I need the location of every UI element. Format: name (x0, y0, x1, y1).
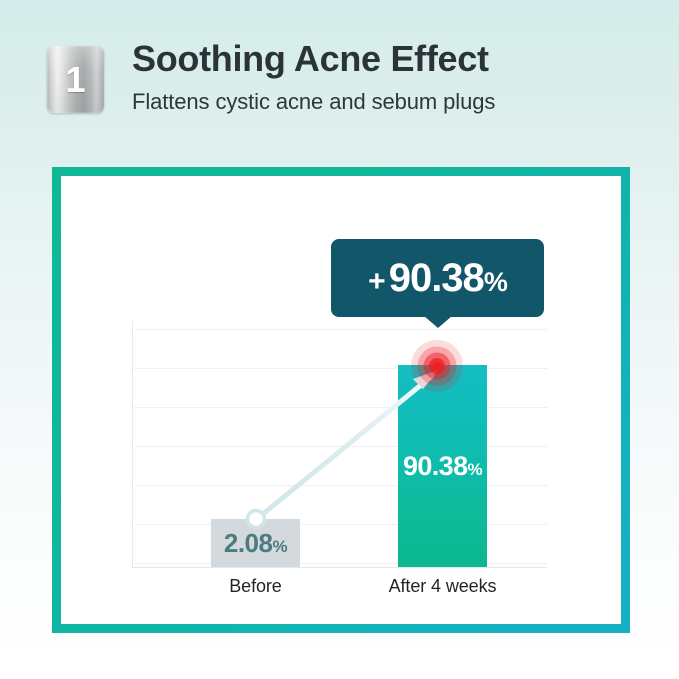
callout-value: 90.38 (389, 256, 484, 300)
increase-callout: +90.38% (331, 239, 544, 317)
header: 1 Soothing Acne Effect Flattens cystic a… (47, 40, 647, 135)
callout-percent-sign: % (484, 267, 507, 297)
bar-after-value-label: 90.38% (398, 451, 487, 482)
bar-before: 2.08% (211, 519, 300, 567)
callout-pointer-icon (424, 316, 452, 328)
chart-card-frame: +90.38% 2.08% 90.38% (52, 167, 630, 633)
x-axis-label-after: After 4 weeks (372, 576, 513, 597)
callout-plus-sign: + (368, 265, 385, 298)
bar-after-value: 90.38 (403, 451, 468, 481)
step-number-badge: 1 (47, 46, 104, 113)
plot-area: 2.08% 90.38% (132, 321, 547, 568)
x-axis-label-before: Before (211, 576, 300, 597)
increase-callout-label: +90.38% (368, 258, 507, 298)
bar-before-percent-sign: % (272, 537, 287, 556)
bar-before-value: 2.08 (224, 528, 273, 558)
bar-after-4-weeks: 90.38% (398, 365, 487, 567)
x-axis-baseline (132, 567, 547, 568)
y-axis-line (132, 321, 133, 568)
pulse-dot-core (433, 362, 442, 371)
step-number-label: 1 (47, 46, 104, 113)
page-subtitle: Flattens cystic acne and sebum plugs (132, 89, 495, 114)
bar-after-percent-sign: % (468, 460, 483, 479)
header-text-group: Soothing Acne Effect Flattens cystic acn… (132, 40, 495, 114)
chart-card: +90.38% 2.08% 90.38% (61, 176, 621, 624)
page-title: Soothing Acne Effect (132, 40, 495, 79)
bar-before-value-label: 2.08% (224, 528, 287, 559)
gridline (132, 329, 547, 330)
x-axis-labels: Before After 4 weeks (132, 576, 547, 606)
